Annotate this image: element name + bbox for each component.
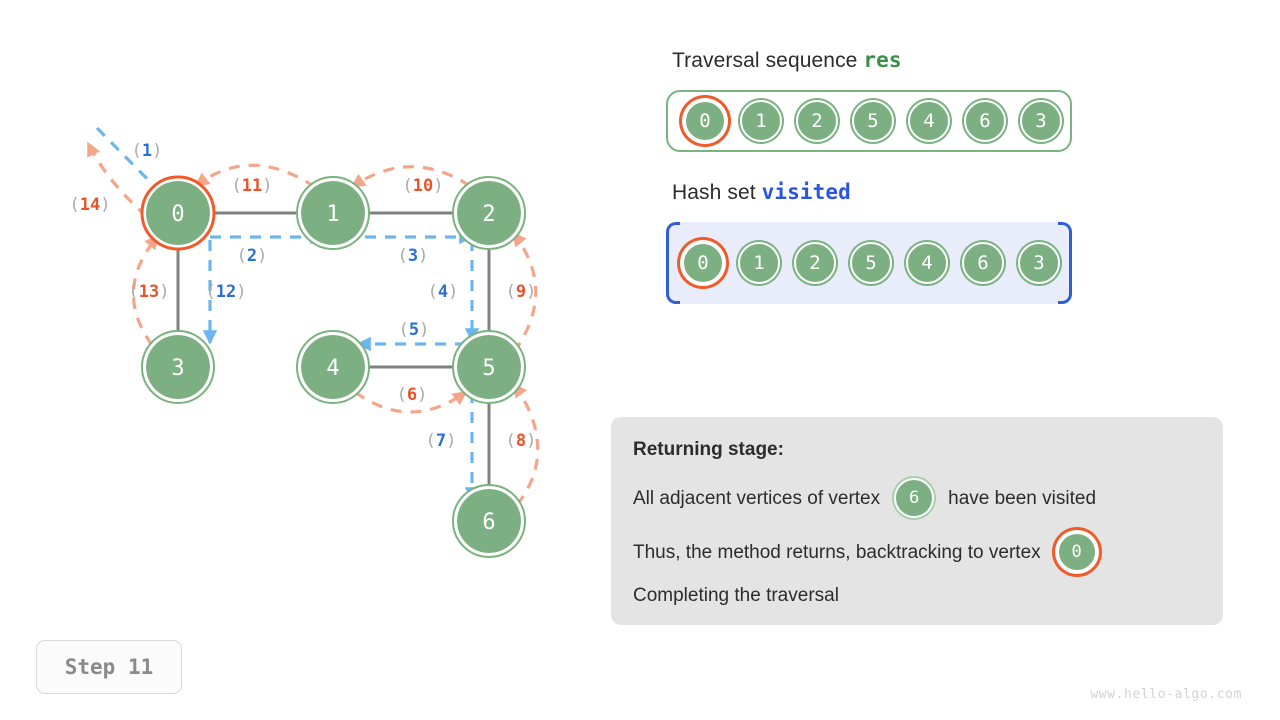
description-vertex-chip: 6 [894, 478, 934, 518]
description-line-2: Thus, the method returns, backtracking t… [633, 532, 1201, 572]
step-label-3: (3) [398, 246, 429, 266]
res-array: 0 1 2 5 4 6 3 [666, 90, 1072, 152]
step-label-1: (1) [132, 141, 163, 161]
step-label-6: (6) [397, 385, 428, 405]
res-cell[interactable]: 3 [1014, 94, 1068, 148]
visited-chip: 5 [850, 242, 892, 284]
right-panel: Traversal sequence res 0 1 2 5 4 6 3 Has… [666, 48, 1246, 304]
visited-chip: 2 [794, 242, 836, 284]
vertex-5[interactable]: 5 [453, 331, 525, 403]
step-label-14: (14) [70, 195, 111, 215]
visited-chip: 0 [682, 242, 724, 284]
visited-variable-name: visited [762, 180, 851, 204]
step-label-5: (5) [399, 320, 430, 340]
step-label-11: (11) [232, 176, 273, 196]
res-cell[interactable]: 5 [846, 94, 900, 148]
vertex-6-label: 6 [482, 510, 495, 535]
res-cell[interactable]: 2 [790, 94, 844, 148]
res-chip: 0 [684, 100, 726, 142]
visited-cell[interactable]: 6 [956, 236, 1010, 290]
res-chip: 6 [964, 100, 1006, 142]
vertex-4-label: 4 [326, 356, 339, 381]
step-badge: Step 11 [36, 640, 182, 694]
visited-cell[interactable]: 5 [844, 236, 898, 290]
description-line-1: All adjacent vertices of vertex 6 have b… [633, 478, 1201, 518]
step-label-7: (7) [426, 431, 457, 451]
step-label-9: (9) [506, 282, 537, 302]
vertex-4[interactable]: 4 [297, 331, 369, 403]
vertex-1-label: 1 [326, 202, 339, 227]
res-chip: 5 [852, 100, 894, 142]
graph-svg: 0 1 2 3 [0, 0, 620, 620]
description-backtrack-chip: 0 [1057, 532, 1097, 572]
description-panel: Returning stage: All adjacent vertices o… [611, 417, 1223, 625]
step-label-13: (13) [129, 282, 170, 302]
vertex-1[interactable]: 1 [297, 177, 369, 249]
res-title: Traversal sequence res [672, 48, 1246, 73]
res-variable-name: res [863, 48, 901, 72]
visited-set: 0 1 2 5 4 6 3 [666, 222, 1072, 304]
vertex-5-label: 5 [482, 356, 495, 381]
res-chip: 4 [908, 100, 950, 142]
visited-cell[interactable]: 1 [732, 236, 786, 290]
res-cell[interactable]: 0 [678, 94, 732, 148]
description-line-1-before: All adjacent vertices of vertex [633, 489, 880, 508]
vertex-2[interactable]: 2 [453, 177, 525, 249]
graph-vertices: 0 1 2 3 [142, 177, 525, 557]
visited-chip: 1 [738, 242, 780, 284]
graph-panel: 0 1 2 3 [0, 0, 620, 620]
step-label-12: (12) [206, 282, 247, 302]
visited-cell[interactable]: 2 [788, 236, 842, 290]
vertex-2-label: 2 [482, 202, 495, 227]
vertex-3[interactable]: 3 [142, 331, 214, 403]
res-title-prefix: Traversal sequence [672, 49, 857, 72]
res-chip: 1 [740, 100, 782, 142]
res-cell[interactable]: 6 [958, 94, 1012, 148]
res-chip: 3 [1020, 100, 1062, 142]
step-label-8: (8) [506, 431, 537, 451]
res-cell[interactable]: 1 [734, 94, 788, 148]
vertex-0-label: 0 [171, 202, 184, 227]
step-label-4: (4) [428, 282, 459, 302]
visited-cell[interactable]: 0 [676, 236, 730, 290]
description-line-2-before: Thus, the method returns, backtracking t… [633, 543, 1041, 562]
step-label-2: (2) [237, 246, 268, 266]
res-chip: 2 [796, 100, 838, 142]
watermark: www.hello-algo.com [1090, 687, 1242, 702]
visited-cell[interactable]: 3 [1012, 236, 1066, 290]
visited-title: Hash set visited [672, 180, 1246, 205]
res-cell[interactable]: 4 [902, 94, 956, 148]
vertex-3-label: 3 [171, 356, 184, 381]
step-label-10: (10) [403, 176, 444, 196]
visited-chip: 4 [906, 242, 948, 284]
description-line-3: Completing the traversal [633, 586, 1201, 605]
description-heading: Returning stage: [633, 439, 1201, 461]
visited-chip: 6 [962, 242, 1004, 284]
vertex-6[interactable]: 6 [453, 485, 525, 557]
description-line-3-text: Completing the traversal [633, 586, 839, 605]
visited-title-prefix: Hash set [672, 181, 756, 204]
vertex-0[interactable]: 0 [142, 177, 214, 249]
description-line-1-after: have been visited [948, 489, 1096, 508]
visited-chip: 3 [1018, 242, 1060, 284]
visited-cell[interactable]: 4 [900, 236, 954, 290]
